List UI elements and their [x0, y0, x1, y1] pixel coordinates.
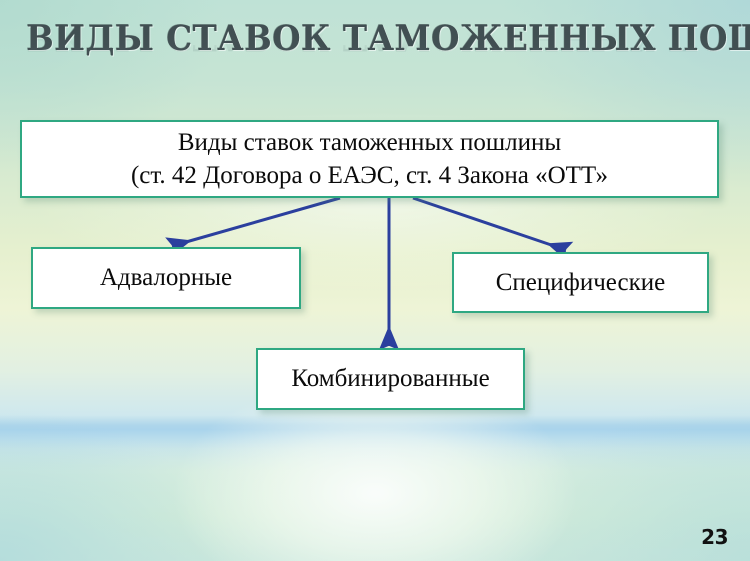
diagram-node-root[interactable]: Виды ставок таможенных пошлины (ст. 42 Д… — [20, 120, 719, 198]
node-label-kombinirovannye: Комбинированные — [291, 365, 489, 393]
node-label-spetsificheskie: Специфические — [496, 269, 666, 297]
diagram-node-spetsificheskie[interactable]: Специфические — [452, 252, 709, 313]
arrow-down-right-icon — [413, 198, 566, 250]
page-title-reflection: ВИДЫ СТАВОК ТАМОЖЕННЫХ ПОШЛИН — [26, 16, 724, 58]
root-line-1: Виды ставок таможенных пошлины — [178, 126, 561, 159]
slide-canvas: ВИДЫ СТАВОК ТАМОЖЕННЫХ ПОШЛИН ВИДЫ СТАВО… — [0, 0, 750, 561]
page-number: 23 — [701, 525, 728, 549]
arrow-down-left-icon — [172, 198, 340, 246]
node-label-advalornye: Адвалорные — [100, 264, 232, 292]
diagram-node-kombinirovannye[interactable]: Комбинированные — [256, 348, 525, 410]
root-line-2: (ст. 42 Договора о ЕАЭС, ст. 4 Закона «О… — [131, 159, 608, 192]
diagram-node-advalornye[interactable]: Адвалорные — [31, 247, 301, 309]
slide-title-block: ВИДЫ СТАВОК ТАМОЖЕННЫХ ПОШЛИН ВИДЫ СТАВО… — [0, 18, 750, 104]
